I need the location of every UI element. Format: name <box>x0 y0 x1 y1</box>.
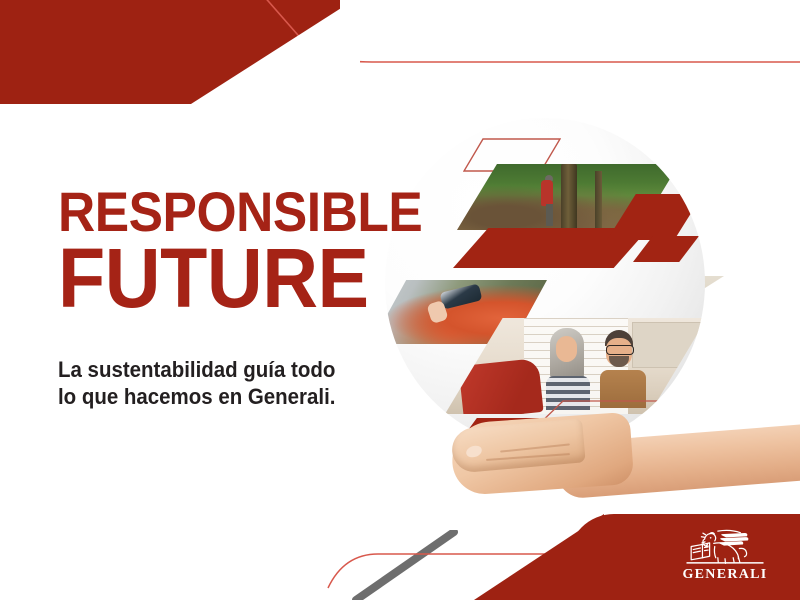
page-subtitle: La sustentabilidad guía todo lo que hace… <box>58 357 365 411</box>
generali-wordmark: GENERALI <box>682 568 767 582</box>
slide-canvas: RESPONSIBLE FUTURE La sustentabilidad gu… <box>0 0 800 600</box>
tree-trunk <box>561 164 577 230</box>
woman-face <box>556 336 577 362</box>
man-figure <box>602 330 646 406</box>
man-glasses <box>606 345 634 355</box>
man-beard <box>609 356 629 367</box>
climber-legs <box>546 204 553 226</box>
winged-lion-icon <box>684 528 766 566</box>
generali-logo[interactable]: GENERALI <box>676 524 774 582</box>
vr-goggles <box>440 283 483 309</box>
red-sleeve-foreground <box>458 358 543 414</box>
climber-jacket <box>541 180 553 206</box>
page-title-line-2: FUTURE <box>58 240 362 317</box>
tree-trunk-secondary <box>595 171 602 230</box>
sphere-photo-collage <box>385 118 705 448</box>
sphere-backdrop <box>385 118 705 448</box>
woman-figure <box>550 328 590 406</box>
headline-block: RESPONSIBLE FUTURE La sustentabilidad gu… <box>58 186 388 410</box>
